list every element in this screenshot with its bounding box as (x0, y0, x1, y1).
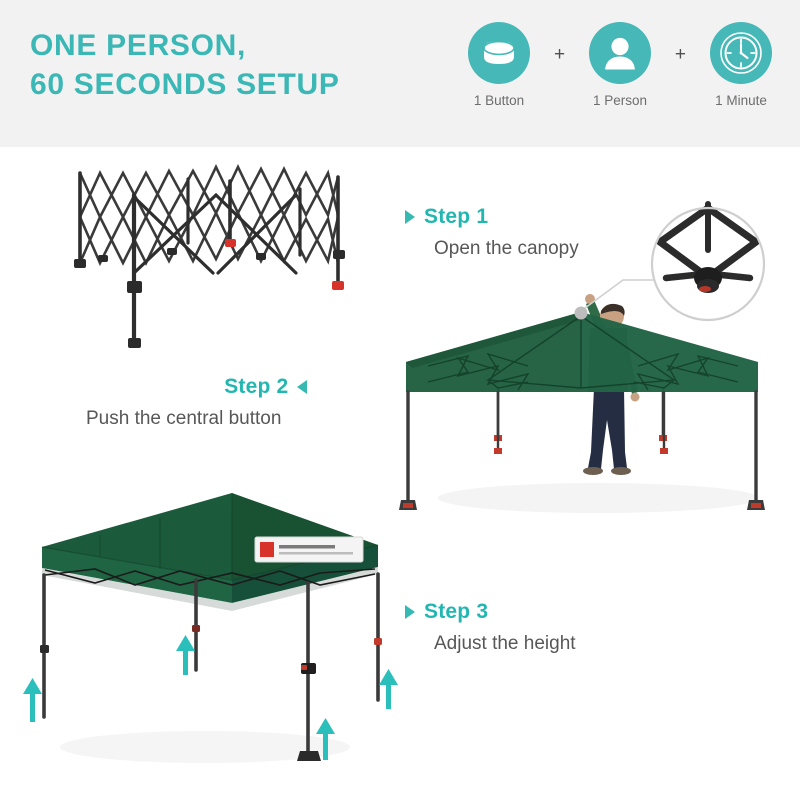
canopy-height-adjust-illustration (0, 485, 420, 800)
plus-separator-1: + (554, 44, 565, 66)
triangle-right-icon (405, 210, 415, 224)
person-icon (603, 35, 637, 71)
canopy-foot (297, 751, 321, 761)
step-2-block: Step 2 Push the central button (86, 375, 307, 430)
leg-collar (374, 638, 382, 645)
brand-label (255, 537, 363, 562)
triangle-left-icon (297, 380, 307, 394)
badge-row: 1 Button + 1 Person + (455, 22, 785, 132)
step-1-block: Step 1 Open the canopy (405, 205, 579, 260)
canopy-adjust-svg (0, 485, 420, 800)
header-band: ONE PERSON, 60 SECONDS SETUP 1 Button + (0, 0, 800, 147)
plus-separator-2: + (675, 44, 686, 66)
badge-minute: 1 Minute (697, 22, 785, 108)
badge-person: 1 Person (576, 22, 664, 108)
folded-frame-svg (38, 155, 388, 360)
page-title: ONE PERSON, 60 SECONDS SETUP (30, 26, 340, 104)
step-3-title: Step 3 (424, 600, 488, 624)
badge-circle (589, 22, 651, 84)
step-2-heading: Step 2 (86, 375, 307, 399)
clock-icon (719, 31, 763, 75)
badge-label: 1 Minute (715, 93, 767, 108)
badge-label: 1 Button (474, 93, 524, 108)
canopy-fabric (406, 312, 758, 392)
step-1-heading: Step 1 (405, 205, 579, 229)
badge-circle (710, 22, 772, 84)
open-canopy-svg (398, 270, 798, 520)
leg-collar (192, 625, 200, 632)
leg-collar (40, 645, 49, 653)
triangle-right-icon (405, 605, 415, 619)
step-2-title: Step 2 (224, 375, 288, 399)
open-canopy-illustration (398, 270, 798, 520)
leg-collar-accent (301, 665, 307, 670)
badge-label: 1 Person (593, 93, 647, 108)
badge-circle (468, 22, 530, 84)
button-icon (481, 38, 517, 68)
height-arrow (176, 635, 195, 675)
step-3-heading: Step 3 (405, 600, 576, 624)
folded-canopy-frame-illustration (38, 155, 388, 360)
height-arrow (379, 669, 398, 709)
step-2-description: Push the central button (86, 408, 281, 430)
height-arrow (23, 678, 42, 722)
central-button-callout (652, 204, 764, 320)
setup-instruction-graphic: ONE PERSON, 60 SECONDS SETUP 1 Button + (0, 0, 800, 800)
step-1-description: Open the canopy (434, 238, 579, 260)
badge-button: 1 Button (455, 22, 543, 108)
step-3-block: Step 3 Adjust the height (405, 600, 576, 655)
step-3-description: Adjust the height (434, 633, 576, 655)
step-1-title: Step 1 (424, 205, 488, 229)
